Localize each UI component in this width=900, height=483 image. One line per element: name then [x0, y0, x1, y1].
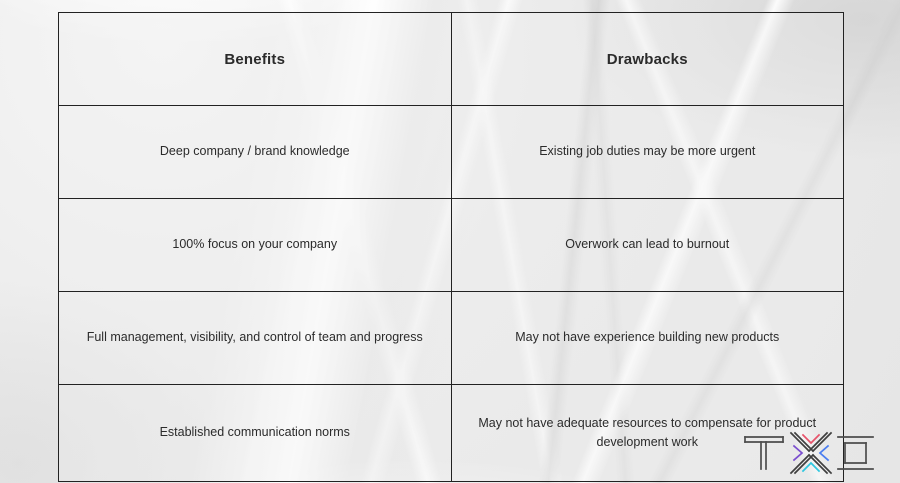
txc-logo — [742, 428, 876, 478]
cell-benefit: Full management, visibility, and control… — [59, 292, 452, 385]
cell-benefit: 100% focus on your company — [59, 199, 452, 292]
x-chevron-mark — [791, 433, 831, 473]
cell-drawback: Overwork can lead to burnout — [451, 199, 844, 292]
slide-canvas: Benefits Drawbacks Deep company / brand … — [0, 0, 900, 483]
chevron-bottom-icon — [803, 463, 819, 471]
table-header-row: Benefits Drawbacks — [59, 13, 844, 106]
column-header-benefits: Benefits — [59, 13, 452, 106]
table-row: Established communication norms May not … — [59, 385, 844, 482]
cell-drawback: Existing job duties may be more urgent — [451, 106, 844, 199]
letter-t-glyph — [745, 437, 783, 469]
table-row: Full management, visibility, and control… — [59, 292, 844, 385]
x-outline-strokes — [791, 433, 831, 473]
cell-drawback: May not have experience building new pro… — [451, 292, 844, 385]
cell-benefit: Deep company / brand knowledge — [59, 106, 452, 199]
column-header-drawbacks: Drawbacks — [451, 13, 844, 106]
comparison-table-container: Benefits Drawbacks Deep company / brand … — [58, 12, 844, 414]
chevron-left-icon — [794, 446, 802, 460]
chevron-top-icon — [803, 435, 819, 443]
table-header: Benefits Drawbacks — [59, 13, 844, 106]
table-body: Deep company / brand knowledge Existing … — [59, 106, 844, 482]
benefits-drawbacks-table: Benefits Drawbacks Deep company / brand … — [58, 12, 844, 482]
chevron-right-icon — [820, 446, 828, 460]
letter-c-glyph — [838, 437, 873, 469]
table-row: Deep company / brand knowledge Existing … — [59, 106, 844, 199]
txc-logo-svg — [742, 428, 876, 478]
table-row: 100% focus on your company Overwork can … — [59, 199, 844, 292]
cell-benefit: Established communication norms — [59, 385, 452, 482]
